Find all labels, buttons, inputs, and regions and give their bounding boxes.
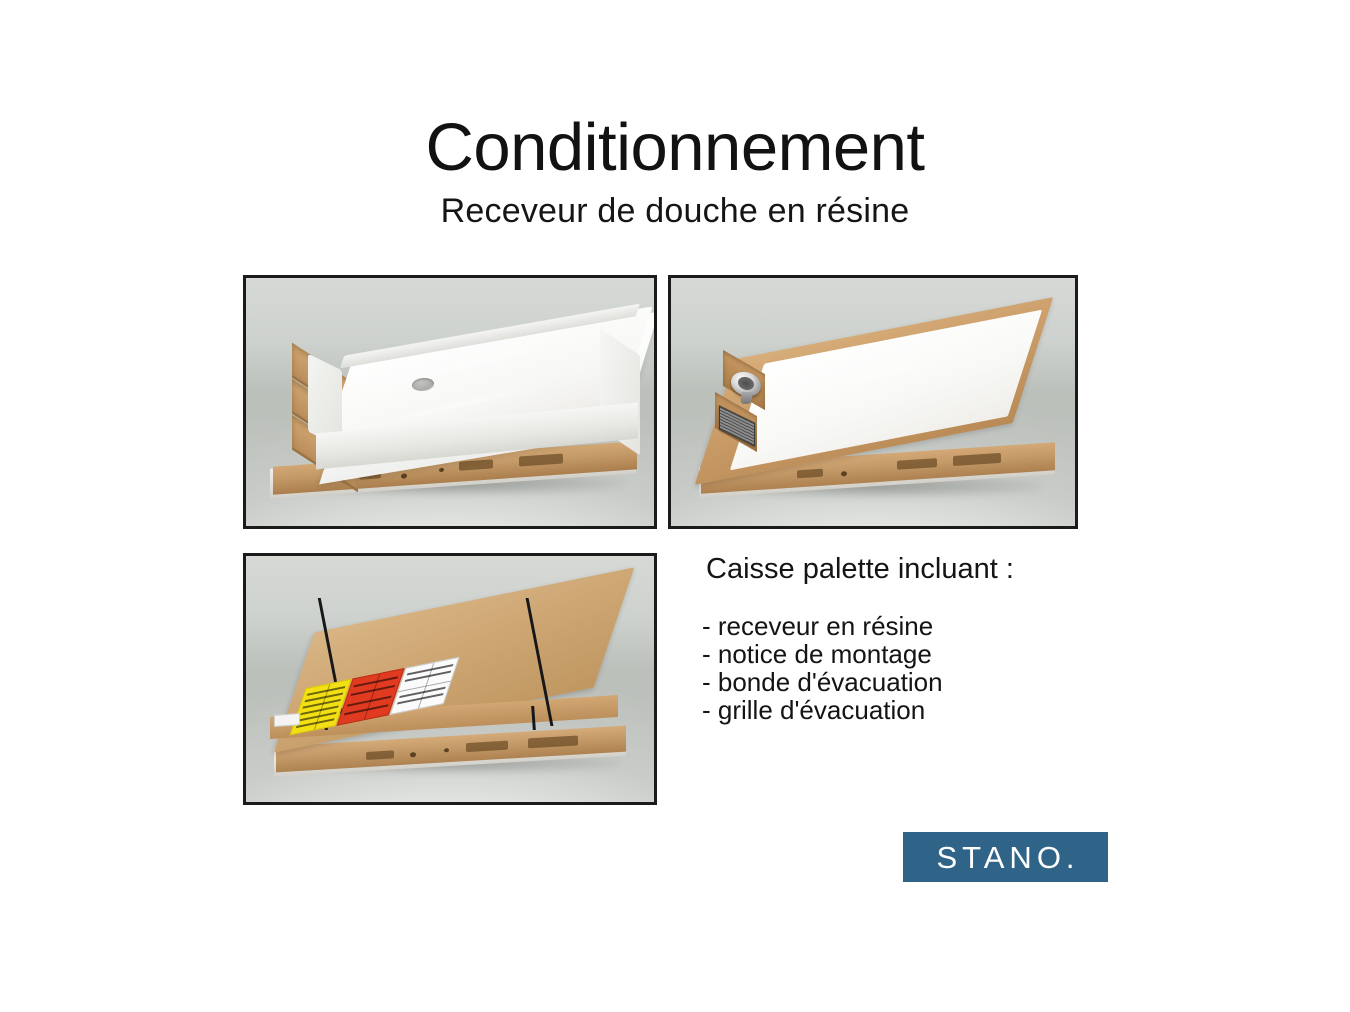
list-item: - grille d'évacuation	[702, 696, 943, 724]
page-title: Conditionnement	[0, 112, 1350, 184]
list-item: - notice de montage	[702, 640, 943, 668]
stano-logo: STANO.	[903, 832, 1108, 882]
page-subtitle: Receveur de douche en résine	[0, 192, 1350, 230]
photo-open-crate-with-resin-tray	[243, 275, 657, 529]
photo-closed-crate-with-labels	[243, 553, 657, 805]
inclusion-list: - receveur en résine - notice de montage…	[702, 612, 943, 724]
stano-wordmark: STANO.	[931, 842, 1079, 873]
list-item: - bonde d'évacuation	[702, 668, 943, 696]
list-item: - receveur en résine	[702, 612, 943, 640]
shipping-tag	[274, 713, 300, 727]
photo-scene	[246, 278, 654, 526]
photo-crate-with-accessories	[668, 275, 1078, 529]
inclusion-caption: Caisse palette incluant :	[706, 552, 1014, 586]
photo-scene	[671, 278, 1075, 526]
photo-scene	[246, 556, 654, 802]
slide-canvas: Conditionnement Receveur de douche en ré…	[0, 0, 1350, 1012]
